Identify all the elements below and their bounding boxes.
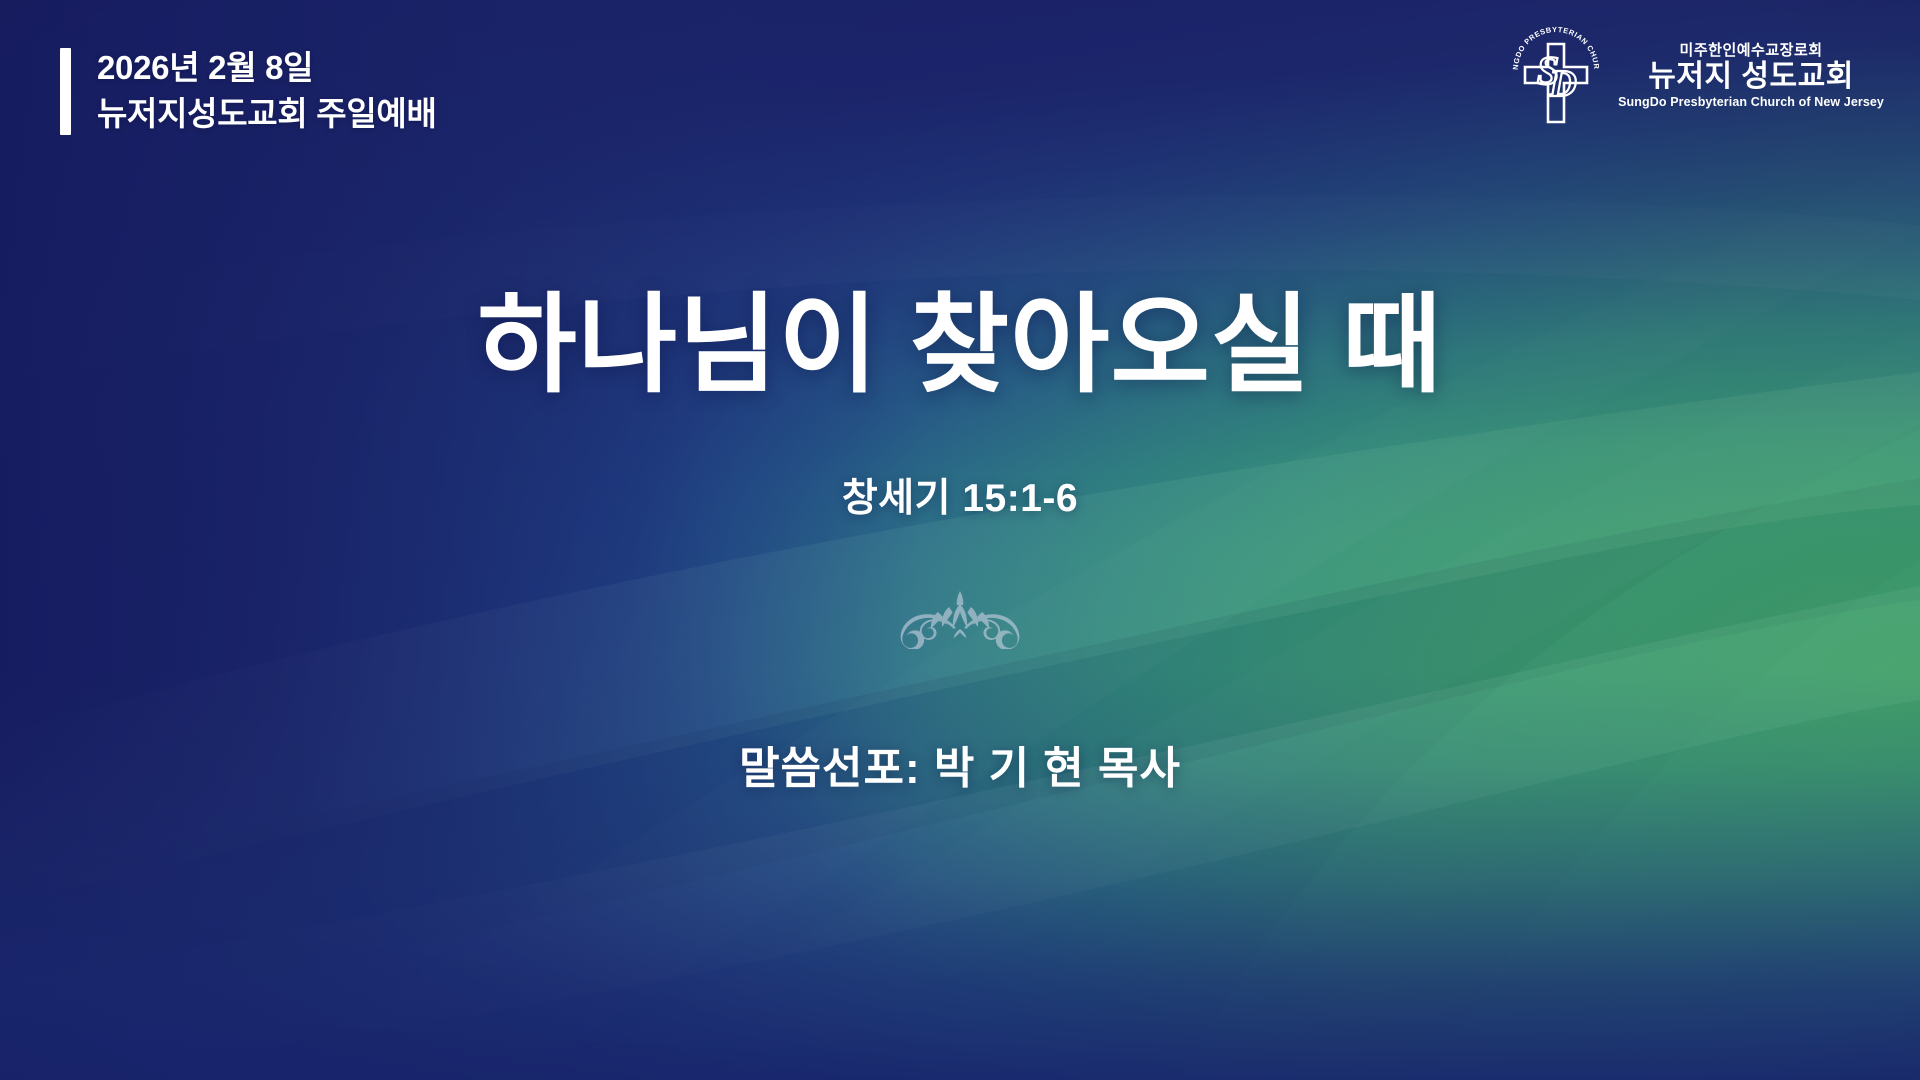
worship-slide: 2026년 2월 8일 뉴저지성도교회 주일예배 SUNGDO PRESBYTE… — [0, 0, 1920, 1080]
scripture-reference: 창세기 15:1-6 — [842, 467, 1078, 523]
preacher-line: 말씀선포: 박 기 현 목사 — [739, 732, 1181, 796]
floral-flourish-divider-icon — [870, 587, 1050, 654]
sermon-title: 하나님이 찾아오실 때 — [477, 288, 1442, 401]
main-content: 하나님이 찾아오실 때 창세기 15:1-6 — [0, 0, 1920, 1080]
